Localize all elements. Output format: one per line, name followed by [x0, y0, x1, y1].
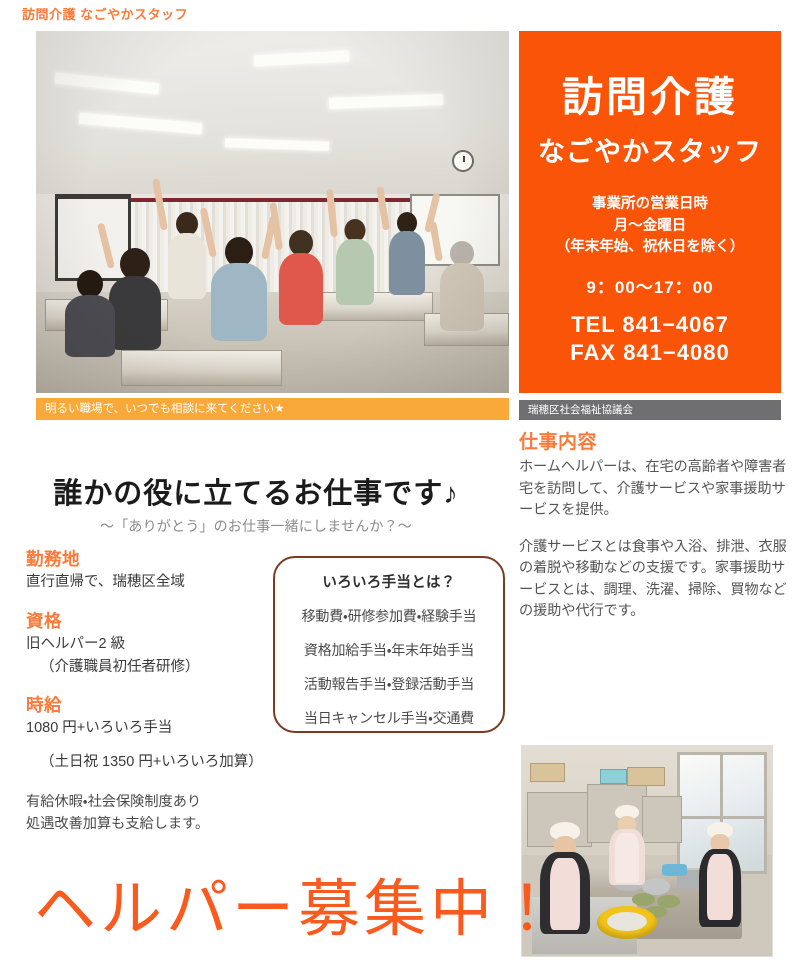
work-description-heading: 仕事内容 — [519, 427, 787, 454]
recruitment-cta: ヘルパー募集中！ — [34, 858, 562, 948]
business-days-note: （年末年始、祝休日を除く） — [519, 237, 781, 259]
fact-qualification: 資格 旧ヘルパー2 級 （介護職員初任者研修） — [26, 608, 276, 679]
fact-location-label: 勤務地 — [26, 546, 276, 571]
telephone-number: TEL 841−4067 — [519, 311, 781, 339]
work-description-section: 仕事内容 ホームヘルパーは、在宅の高齢者や障害者宅を訪問して、介護サービスや家事… — [519, 427, 787, 623]
benefit-line: 処遇改善加算も支給します。 — [26, 814, 276, 835]
page-title: 訪問介護 なごやかスタッフ — [22, 4, 188, 23]
business-hours-label: 事業所の営業日時 — [519, 194, 781, 216]
fact-wage: 時給 1080 円+いろいろ手当 （土日祝 1350 円+いろいろ加算） — [26, 692, 276, 773]
kitchen-worker — [602, 805, 652, 910]
kitchen-worker — [692, 822, 747, 948]
fact-location-value: 直行直帰で、瑞穂区全域 — [26, 572, 276, 594]
lead-headline: 誰かの役に立てるお仕事です♪ — [0, 470, 512, 512]
allowances-box: いろいろ手当とは？ 移動費・研修参加費・経験手当 資格加給手当・年末年始手当 活… — [273, 556, 505, 733]
storage-box — [627, 767, 665, 786]
allowances-title: いろいろ手当とは？ — [275, 571, 503, 592]
work-description-paragraph: ホームヘルパーは、在宅の高齢者や障害者宅を訪問して、介護サービスや家事援助サービ… — [519, 457, 787, 522]
business-days: 月〜金曜日 — [519, 216, 781, 238]
fact-qualification-value: 旧ヘルパー2 級 — [26, 634, 276, 656]
photo-caption: 明るい職場で、いつでも相談に来てください★ — [36, 398, 509, 420]
storage-box — [600, 769, 628, 784]
apron — [707, 854, 733, 920]
storage-box — [530, 763, 565, 782]
fact-location: 勤務地 直行直帰で、瑞穂区全域 — [26, 546, 276, 594]
hero-title: 訪問介護 — [519, 75, 781, 121]
fact-wage-value: 1080 円+いろいろ手当 — [26, 718, 276, 740]
classroom-scene — [36, 31, 509, 393]
lead-subheadline: 〜「ありがとう」のお仕事一緒にしませんか？〜 — [0, 516, 512, 536]
benefit-line: 有給休暇・社会保険制度あり — [26, 792, 276, 813]
job-facts: 勤務地 直行直帰で、瑞穂区全域 資格 旧ヘルパー2 級 （介護職員初任者研修） … — [26, 546, 276, 835]
allowance-item: 当日キャンセル手当・交通費 — [275, 708, 503, 728]
organization-bar: 瑞穂区社会福祉協議会 — [519, 400, 781, 420]
allowance-item: 資格加給手当・年末年始手当 — [275, 640, 503, 660]
hero-panel: 訪問介護 なごやかスタッフ 事業所の営業日時 月〜金曜日 （年末年始、祝休日を除… — [519, 31, 781, 393]
fact-benefits: 有給休暇・社会保険制度あり 処遇改善加算も支給します。 — [26, 792, 276, 835]
flyer-page: 訪問介護 なごやかスタッフ — [0, 0, 800, 968]
fact-qualification-label: 資格 — [26, 608, 276, 633]
allowance-item: 活動報告手当・登録活動手当 — [275, 674, 503, 694]
allowance-item: 移動費・研修参加費・経験手当 — [275, 606, 503, 626]
fax-number: FAX 841−4080 — [519, 339, 781, 367]
work-description-paragraph: 介護サービスとは食事や入浴、排泄、衣服の着脱や移動などの支援です。家事援助サービ… — [519, 537, 787, 623]
contact-block: TEL 841−4067 FAX 841−4080 — [519, 311, 781, 367]
yellow-basin — [597, 906, 657, 940]
hero-subtitle: なごやかスタッフ — [519, 130, 781, 169]
fact-wage-weekend-note: （土日祝 1350 円+いろいろ加算） — [26, 751, 276, 773]
fact-qualification-detail: （介護職員初任者研修） — [26, 657, 276, 679]
business-time: 9：00〜17：00 — [519, 273, 781, 298]
blue-container — [662, 864, 687, 877]
classroom-photo — [36, 31, 509, 393]
photo-vignette — [36, 31, 509, 393]
apron — [615, 833, 639, 883]
fact-wage-label: 時給 — [26, 692, 276, 717]
